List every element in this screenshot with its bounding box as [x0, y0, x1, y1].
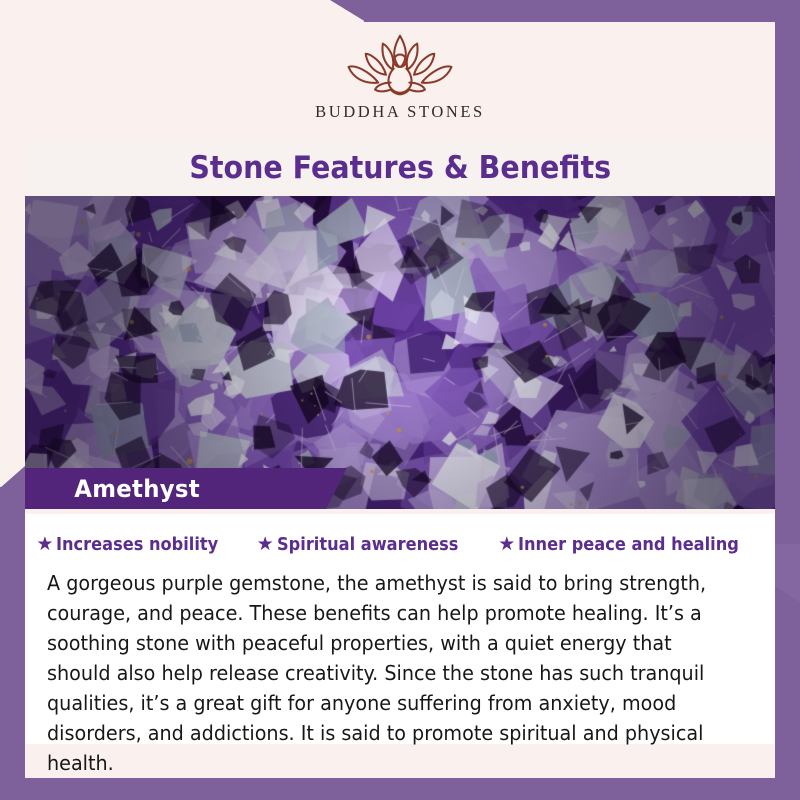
- stone-name-banner: Amethyst: [25, 468, 347, 509]
- benefit-item: ★Spiritual awareness: [257, 534, 479, 555]
- amethyst-crystal-photo: [25, 196, 775, 509]
- frame-band-left: [0, 487, 25, 800]
- frame-band-right: [775, 0, 800, 800]
- lotus-meditation-logo-icon: [320, 28, 480, 106]
- frame-corner-bottom-left-diagonal: [0, 466, 25, 488]
- star-icon: ★: [36, 535, 53, 554]
- page-inner-card: BUDDHA STONES Stone Features & Benefits …: [25, 22, 775, 778]
- frame-band-top: [364, 0, 800, 22]
- page-title: Stone Features & Benefits: [189, 150, 611, 186]
- benefit-label: Spiritual awareness: [277, 534, 458, 555]
- page-title-bar: Stone Features & Benefits: [25, 140, 775, 196]
- benefit-label: Inner peace and healing: [518, 534, 739, 555]
- content-panel: ★Increases nobility★Spiritual awareness★…: [25, 514, 775, 744]
- benefit-label: Increases nobility: [56, 534, 218, 555]
- stone-name-label: Amethyst: [74, 475, 200, 503]
- frame-band-bottom: [0, 778, 800, 800]
- benefit-item: ★Increases nobility: [36, 534, 236, 555]
- benefits-list: ★Increases nobility★Spiritual awareness★…: [37, 530, 763, 557]
- star-icon: ★: [257, 535, 274, 554]
- brand-name: BUDDHA STONES: [315, 102, 485, 122]
- benefit-item: ★Inner peace and healing: [498, 534, 763, 555]
- stone-description: A gorgeous purple gemstone, the amethyst…: [47, 569, 716, 778]
- brand-header: BUDDHA STONES: [25, 22, 775, 138]
- infographic-page: BUDDHA STONES Stone Features & Benefits …: [0, 0, 800, 800]
- star-icon: ★: [498, 535, 515, 554]
- frame-corner-top-left-diagonal: [330, 0, 366, 22]
- hero-image: Amethyst: [25, 196, 775, 509]
